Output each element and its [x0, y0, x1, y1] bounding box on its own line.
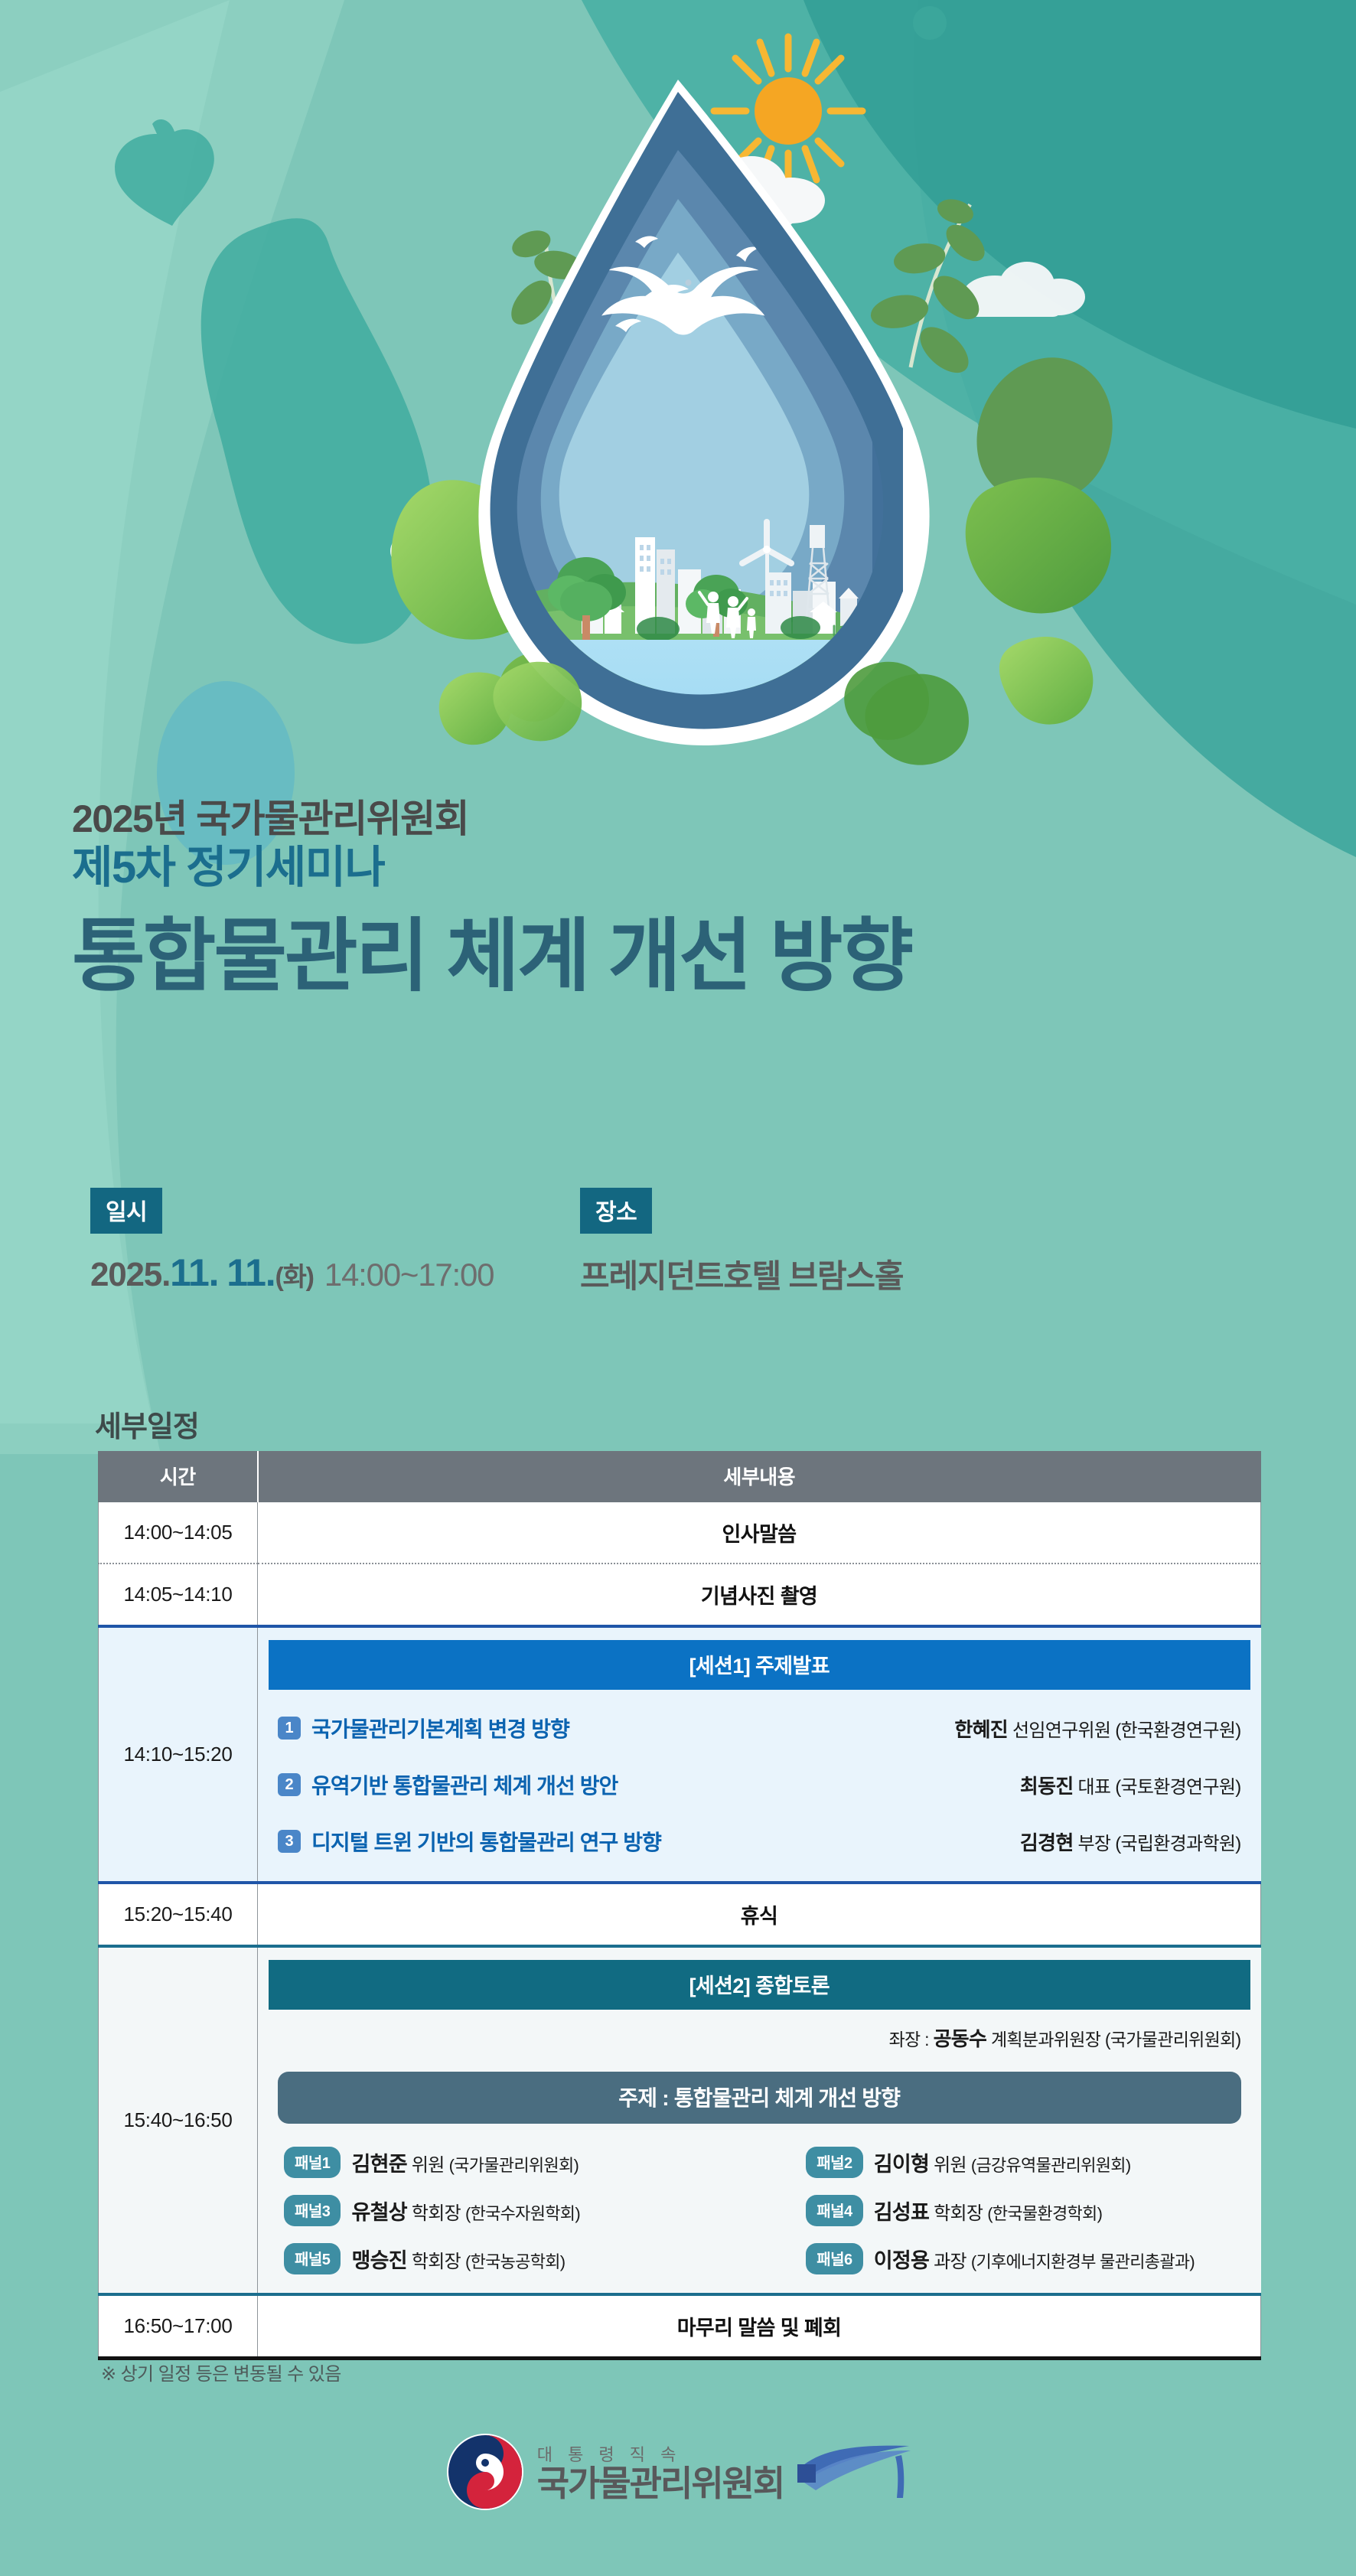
chair-prefix: 좌장 :: [889, 2030, 929, 2049]
page-title: 통합물관리 체계 개선 방향: [72, 914, 1296, 999]
panel-role: 학회장: [412, 2203, 461, 2224]
date-column: 일시 2025.11. 11.(화)14:00~17:00: [90, 1188, 494, 1295]
date-month: 11.: [170, 1251, 218, 1294]
session2-time: 15:40~16:50: [99, 1946, 258, 2294]
kicker-line-1: 2025년 국가물관리위원회: [72, 797, 1296, 840]
panel-badge: 패널2: [806, 2147, 862, 2178]
talk-speaker-name: 한혜진: [954, 1718, 1008, 1741]
panel-role: 학회장: [934, 2203, 983, 2224]
talk-number-badge: 2: [278, 1773, 301, 1796]
panel-text: 맹승진 학회장 (한국농공학회): [351, 2244, 565, 2274]
logo-main-text: 국가물관리위원회: [537, 2466, 784, 2501]
panel-org: (금강유역물관리위원회): [971, 2156, 1131, 2175]
date-badge: 일시: [90, 1188, 162, 1234]
panel-org: (한국농공학회): [465, 2252, 566, 2271]
talk-speaker-name: 김경현: [1020, 1831, 1074, 1854]
panel-text: 유철상 학회장 (한국수자원학회): [351, 2196, 580, 2225]
talk-number-badge: 3: [278, 1830, 301, 1853]
schedule-note: ※ 상기 일정 등은 변동될 수 있음: [101, 2359, 341, 2385]
talk-title: 디지털 트윈 기반의 통합물관리 연구 방향: [311, 1826, 661, 1857]
table-header-row: 시간 세부내용: [99, 1452, 1261, 1502]
row-time: 14:05~14:10: [99, 1564, 258, 1626]
panel-item: 패널2 김이형 위원 (금강유역물관리위원회): [763, 2147, 1240, 2178]
table-row: 15:20~15:40 휴식: [99, 1883, 1261, 1946]
talk-item: 1 국가물관리기본계획 변경 방향 한혜진 선임연구위원 (한국환경연구원): [278, 1713, 1241, 1743]
panel-org: (한국물환경학회): [987, 2204, 1102, 2223]
date-dow: (화): [275, 1263, 313, 1292]
panel-list: 패널1 김현준 위원 (국가물관리위원회) 패널2: [258, 2124, 1261, 2293]
row-content: 휴식: [258, 1883, 1261, 1946]
venue-column: 장소 프레지던트호텔 브람스홀: [580, 1188, 903, 1297]
panel-name: 유철상: [351, 2201, 406, 2224]
session2-chair: 좌장 : 공동수 계획분과위원장 (국가물관리위원회): [258, 2010, 1261, 2052]
column-header-content: 세부내용: [258, 1452, 1261, 1502]
row-time: 16:50~17:00: [99, 2294, 258, 2359]
logo-text: 대 통 령 직 속 국가물관리위원회: [537, 2447, 784, 2501]
column-header-time: 시간: [99, 1452, 258, 1502]
talk-item: 2 유역기반 통합물관리 체계 개선 방안 최동진 대표 (국토환경연구원): [278, 1769, 1241, 1800]
table-row: 14:05~14:10 기념사진 촬영: [99, 1564, 1261, 1626]
panel-name: 김이형: [874, 2153, 929, 2176]
talk-speaker: 한혜진 선임연구위원 (한국환경연구원): [954, 1714, 1240, 1743]
kicker-line-2: 제5차 정기세미나: [72, 842, 1296, 894]
panel-badge: 패널6: [806, 2243, 862, 2274]
panel-role: 위원: [934, 2155, 966, 2176]
table-row: 16:50~17:00 마무리 말씀 및 폐회: [99, 2294, 1261, 2359]
talk-speaker: 김경현 부장 (국립환경과학원): [1020, 1828, 1241, 1856]
chair-name: 공동수: [934, 2027, 987, 2050]
panel-org: (국가물관리위원회): [449, 2156, 579, 2175]
session2-bar: [세션2] 종합토론: [269, 1960, 1250, 2010]
venue-value: 프레지던트호텔 브람스홀: [580, 1251, 903, 1297]
panel-badge: 패널4: [806, 2195, 862, 2226]
talk-speaker-name: 최동진: [1020, 1775, 1074, 1798]
row-content: 인사말씀: [258, 1502, 1261, 1564]
government-logo: 대 통 령 직 속 국가물관리위원회: [445, 2432, 911, 2516]
row-content: 마무리 말씀 및 폐회: [258, 2294, 1261, 2359]
panel-item: 패널1 김현준 위원 (국가물관리위원회): [278, 2147, 755, 2178]
talk-speaker-role: 대표: [1078, 1777, 1111, 1798]
panel-name: 김성표: [874, 2201, 929, 2224]
panel-name: 김현준: [351, 2153, 406, 2176]
talk-title: 국가물관리기본계획 변경 방향: [311, 1713, 569, 1743]
meta-block: 일시 2025.11. 11.(화)14:00~17:00 장소 프레지던트호텔…: [90, 1188, 1269, 1325]
panel-text: 김현준 위원 (국가물관리위원회): [351, 2147, 579, 2177]
date-day: 11.: [227, 1251, 275, 1294]
talk-speaker-role: 선임연구위원: [1012, 1720, 1110, 1741]
panel-text: 김이형 위원 (금강유역물관리위원회): [874, 2147, 1131, 2177]
panel-badge: 패널1: [284, 2147, 341, 2178]
row-time: 14:00~14:05: [99, 1502, 258, 1564]
talk-item: 3 디지털 트윈 기반의 통합물관리 연구 방향 김경현 부장 (국립환경과학원…: [278, 1826, 1241, 1857]
session1-row: 14:10~15:20 [세션1] 주제발표 1 국가물관리기본계획 변경 방향: [99, 1626, 1261, 1883]
taegeuk-emblem-icon: [445, 2432, 525, 2516]
footer-logo-wrap: 대 통 령 직 속 국가물관리위원회: [0, 2432, 1356, 2516]
panel-text: 김성표 학회장 (한국물환경학회): [874, 2196, 1103, 2225]
schedule-heading: 세부일정: [95, 1403, 199, 1445]
date-time: 14:00~17:00: [324, 1257, 494, 1293]
panel-item: 패널3 유철상 학회장 (한국수자원학회): [278, 2195, 755, 2226]
panel-name: 맹승진: [351, 2249, 406, 2272]
chair-role: 계획분과위원장: [991, 2030, 1100, 2049]
talk-speaker-org: (한국환경연구원): [1115, 1720, 1240, 1741]
panel-role: 학회장: [412, 2252, 461, 2272]
talk-title: 유역기반 통합물관리 체계 개선 방안: [311, 1769, 618, 1800]
session2-row: 15:40~16:50 [세션2] 종합토론 좌장 : 공동수 계획분과위원장 …: [99, 1946, 1261, 2294]
session1-content: [세션1] 주제발표 1 국가물관리기본계획 변경 방향 한혜진: [258, 1626, 1261, 1883]
panel-role: 과장: [934, 2252, 966, 2272]
panel-text: 이정용 과장 (기후에너지환경부 물관리총괄과): [874, 2244, 1195, 2274]
date-value: 2025.11. 11.(화)14:00~17:00: [90, 1251, 494, 1295]
panel-item: 패널4 김성표 학회장 (한국물환경학회): [763, 2195, 1240, 2226]
session2-topic-bar: 주제 : 통합물관리 체계 개선 방향: [278, 2072, 1241, 2124]
panel-role: 위원: [412, 2155, 445, 2176]
panel-item: 패널6 이정용 과장 (기후에너지환경부 물관리총괄과): [763, 2243, 1240, 2274]
schedule-table-wrap: 시간 세부내용 14:00~14:05 인사말씀 14:05~14:10 기념사…: [98, 1451, 1261, 2360]
chair-org: (국가물관리위원회): [1105, 2030, 1241, 2049]
logo-top-text: 대 통 령 직 속: [537, 2447, 784, 2464]
panel-name: 이정용: [874, 2249, 929, 2272]
headline-block: 2025년 국가물관리위원회 제5차 정기세미나 통합물관리 체계 개선 방향: [72, 797, 1296, 1000]
table-row: 14:00~14:05 인사말씀: [99, 1502, 1261, 1564]
session1-bar: [세션1] 주제발표: [269, 1640, 1250, 1690]
panel-org: (기후에너지환경부 물관리총괄과): [971, 2252, 1195, 2271]
talk-speaker-org: (국립환경과학원): [1115, 1834, 1240, 1854]
session1-talk-list: 1 국가물관리기본계획 변경 방향 한혜진 선임연구위원 (한국환경연구원): [258, 1690, 1261, 1881]
wave-mark-icon: [796, 2444, 911, 2503]
water-drop-illustration: [0, 0, 1356, 773]
venue-badge: 장소: [580, 1188, 652, 1234]
panel-item: 패널5 맹승진 학회장 (한국농공학회): [278, 2243, 755, 2274]
talk-speaker-org: (국토환경연구원): [1115, 1777, 1240, 1798]
talk-speaker: 최동진 대표 (국토환경연구원): [1020, 1771, 1241, 1799]
talk-number-badge: 1: [278, 1717, 301, 1740]
session1-time: 14:10~15:20: [99, 1626, 258, 1883]
panel-badge: 패널3: [284, 2195, 341, 2226]
schedule-table: 시간 세부내용 14:00~14:05 인사말씀 14:05~14:10 기념사…: [98, 1451, 1261, 2360]
talk-speaker-role: 부장: [1078, 1834, 1111, 1854]
poster-root: 2025년 국가물관리위원회 제5차 정기세미나 통합물관리 체계 개선 방향 …: [0, 0, 1356, 2576]
date-year: 2025.: [90, 1256, 170, 1293]
row-time: 15:20~15:40: [99, 1883, 258, 1946]
panel-org: (한국수자원학회): [465, 2204, 580, 2223]
panel-badge: 패널5: [284, 2243, 341, 2274]
session2-content: [세션2] 종합토론 좌장 : 공동수 계획분과위원장 (국가물관리위원회) 주…: [258, 1946, 1261, 2294]
row-content: 기념사진 촬영: [258, 1564, 1261, 1626]
